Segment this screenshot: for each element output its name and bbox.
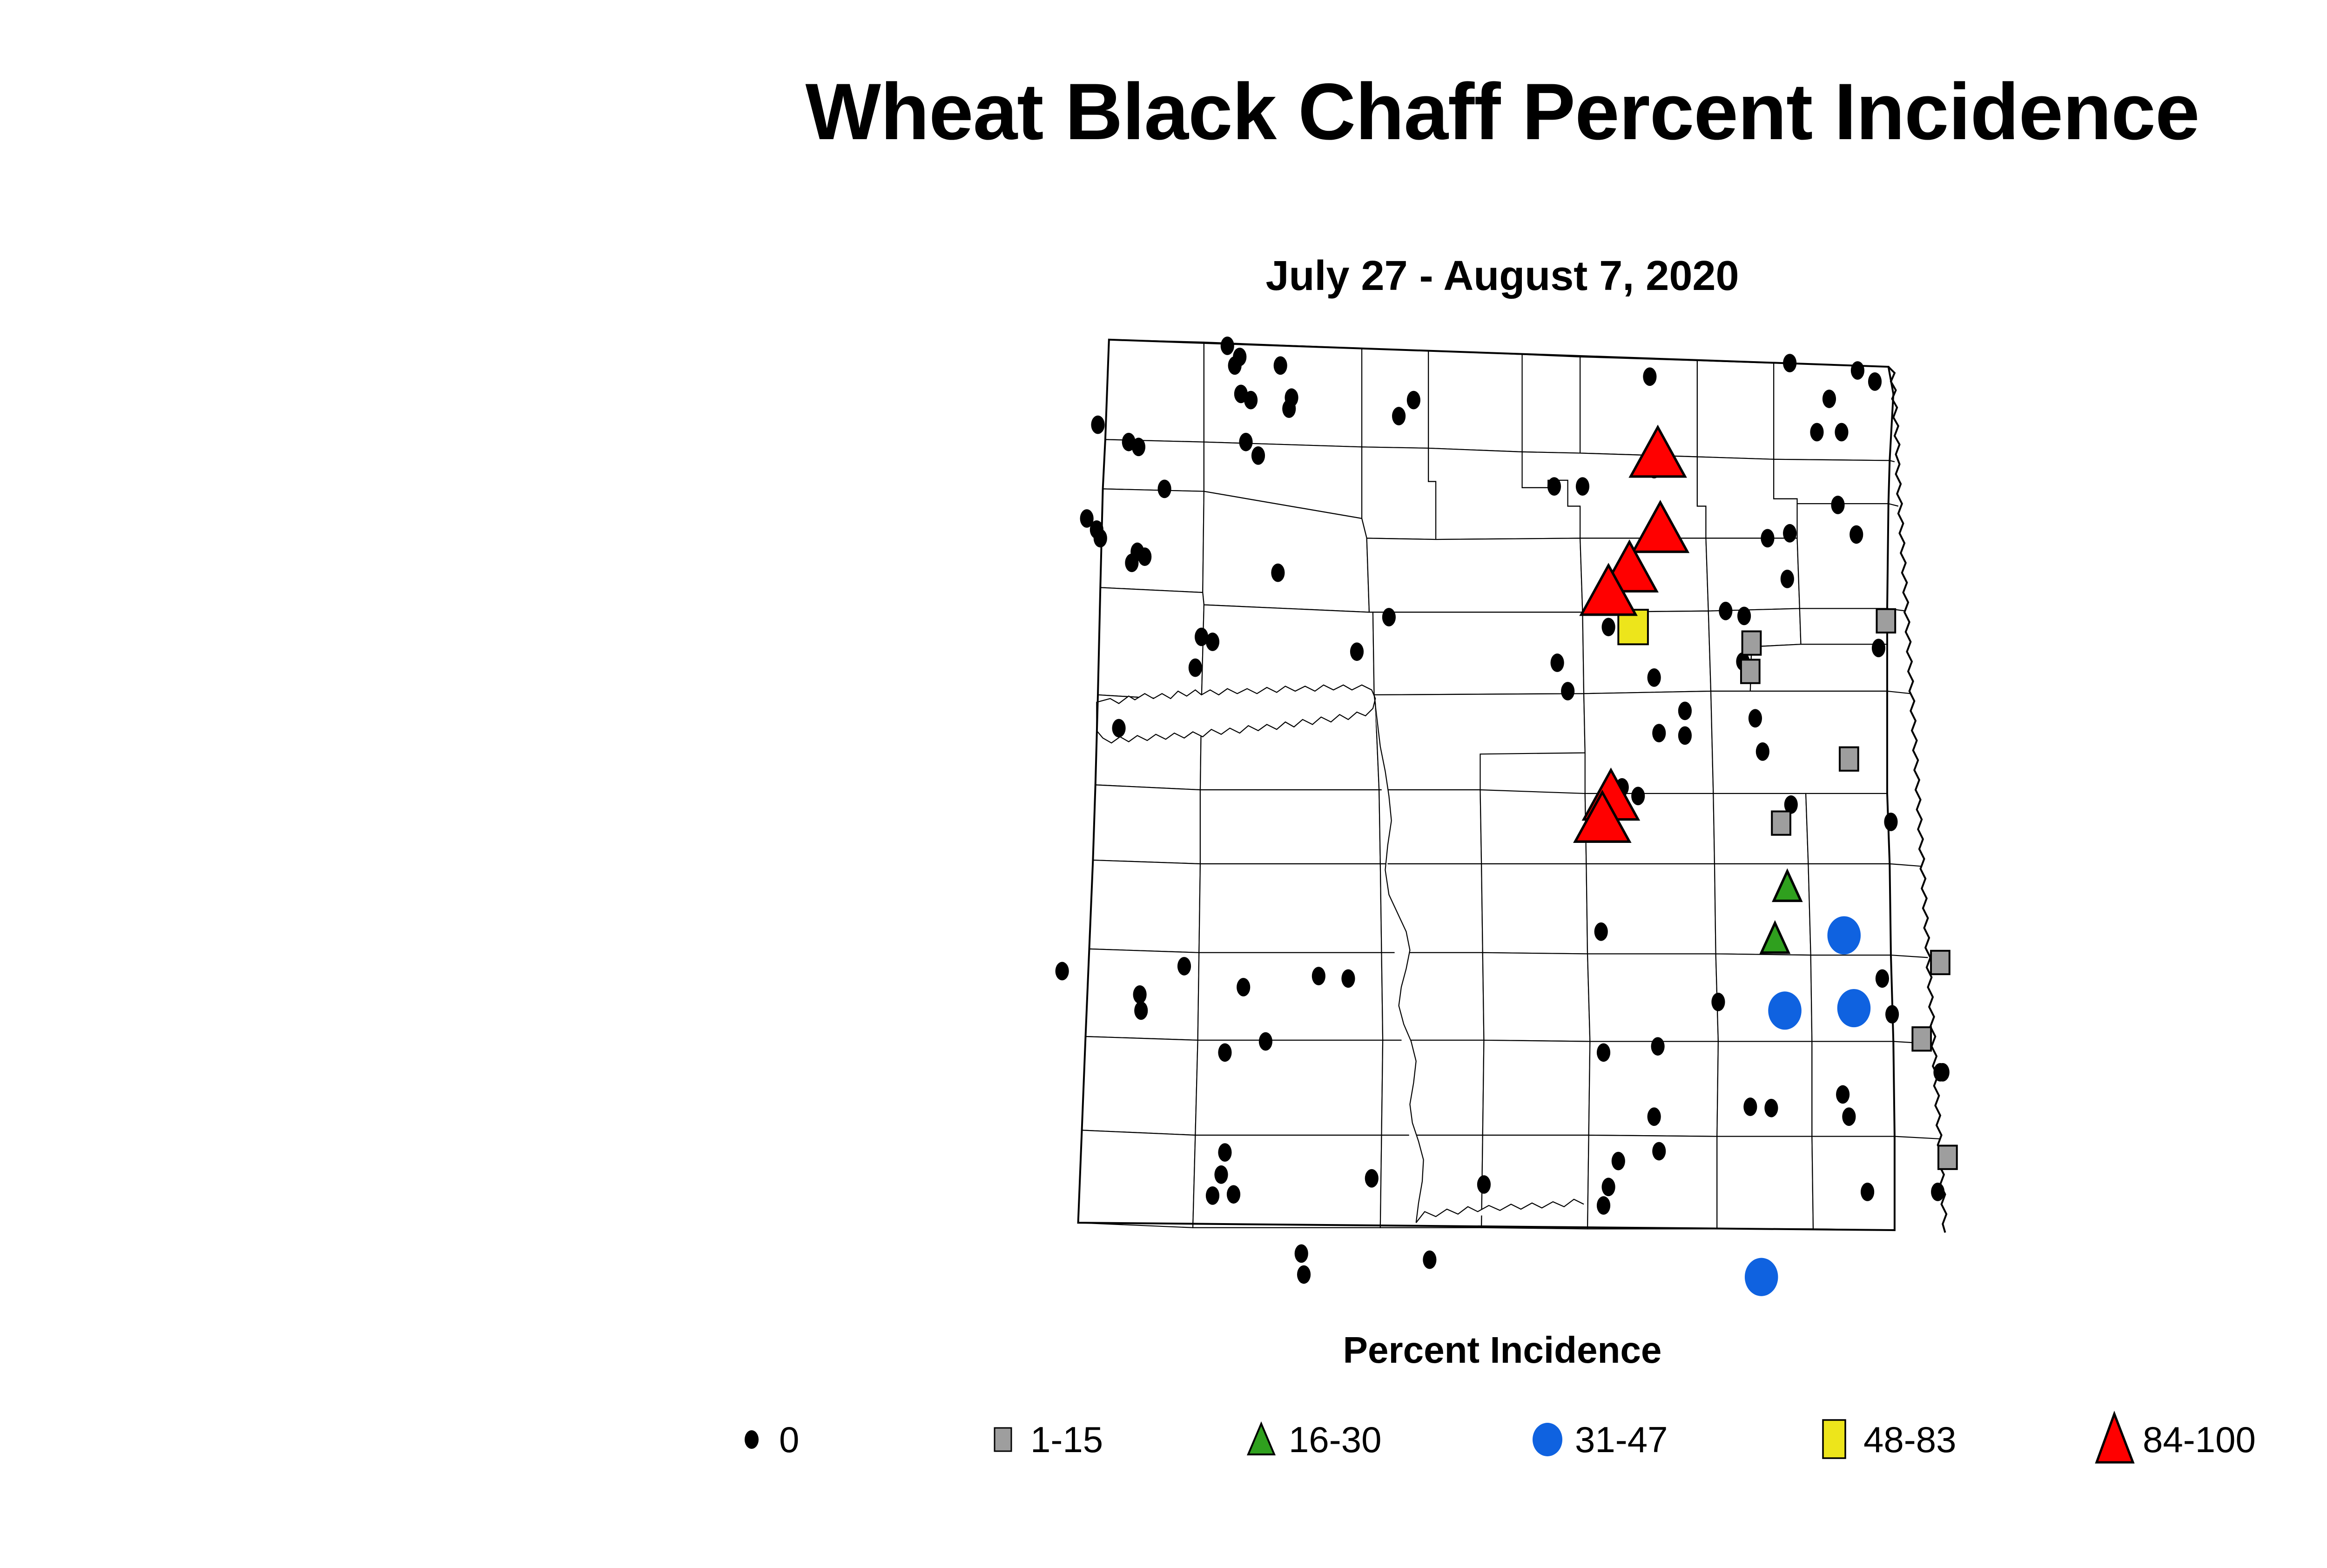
map-marker[interactable] <box>1365 1169 1379 1188</box>
map-marker[interactable] <box>1602 1178 1615 1196</box>
map-marker[interactable] <box>1719 602 1732 620</box>
map-marker[interactable] <box>1423 1251 1436 1269</box>
map-marker[interactable] <box>1133 985 1147 1004</box>
map-marker[interactable] <box>1837 989 1871 1027</box>
map-marker[interactable] <box>1056 962 1069 981</box>
map-marker[interactable] <box>1761 529 1774 548</box>
map-marker[interactable] <box>1783 524 1796 543</box>
legend: 0 1-15 16-30 31-47 48-83 84-100 <box>726 1405 2308 1474</box>
map-marker[interactable] <box>1282 399 1296 418</box>
map-marker[interactable] <box>1094 529 1107 548</box>
legend-item-2[interactable]: 16-30 <box>1236 1405 1382 1474</box>
legend-title: Percent Incidence <box>0 1329 2327 1372</box>
legend-dot-icon <box>726 1412 777 1467</box>
map-marker[interactable] <box>1872 639 1885 657</box>
map-marker[interactable] <box>1835 423 1848 442</box>
map-marker[interactable] <box>1931 951 1950 974</box>
map-marker[interactable] <box>1783 354 1796 372</box>
map-marker[interactable] <box>1876 609 1895 633</box>
legend-label-0: 0 <box>779 1419 799 1461</box>
map-marker[interactable] <box>1597 1196 1610 1215</box>
map-marker[interactable] <box>1158 480 1171 498</box>
map-marker[interactable] <box>1271 564 1285 582</box>
map-marker[interactable] <box>1112 719 1125 738</box>
map-marker[interactable] <box>1091 416 1104 434</box>
map-marker[interactable] <box>1842 1107 1856 1126</box>
map-marker[interactable] <box>1885 1005 1899 1023</box>
legend-square-small-icon <box>977 1412 1029 1467</box>
map-marker[interactable] <box>1477 1175 1491 1194</box>
map-marker[interactable] <box>1931 1183 1944 1201</box>
legend-triangle-large-icon <box>2090 1412 2141 1467</box>
map-svg <box>675 321 2327 1308</box>
map-marker[interactable] <box>1228 357 1242 375</box>
map-marker[interactable] <box>1134 1001 1148 1020</box>
legend-square-large-icon <box>1810 1412 1862 1467</box>
map-marker[interactable] <box>1547 477 1561 496</box>
map-marker[interactable] <box>1851 361 1864 380</box>
map-marker[interactable] <box>1651 1037 1665 1056</box>
map-marker[interactable] <box>1297 1265 1311 1284</box>
map-marker[interactable] <box>1745 1258 1778 1296</box>
legend-item-3[interactable]: 31-47 <box>1522 1405 1668 1474</box>
map-marker[interactable] <box>1876 969 1889 988</box>
legend-triangle-medium-icon <box>1236 1412 1287 1467</box>
map-marker[interactable] <box>1933 1063 1947 1082</box>
map-marker[interactable] <box>1648 1107 1661 1126</box>
map-marker[interactable] <box>1711 993 1725 1011</box>
map-marker[interactable] <box>1742 631 1761 654</box>
map-marker[interactable] <box>1138 547 1151 566</box>
map-marker[interactable] <box>1177 957 1191 976</box>
map-marker[interactable] <box>1274 357 1287 375</box>
map-marker[interactable] <box>1678 702 1692 720</box>
map-marker[interactable] <box>1741 660 1760 683</box>
legend-label-5: 84-100 <box>2143 1419 2256 1461</box>
map-marker[interactable] <box>1227 1185 1240 1204</box>
map-marker[interactable] <box>1849 525 1863 544</box>
legend-label-4: 48-83 <box>1863 1419 1957 1461</box>
map-marker[interactable] <box>1239 433 1252 451</box>
page-title: Wheat Black Chaff Percent Incidence <box>0 70 2327 154</box>
map-marker[interactable] <box>1861 1183 1874 1201</box>
map-marker[interactable] <box>1561 682 1574 700</box>
map-marker[interactable] <box>1206 633 1219 651</box>
map-marker[interactable] <box>1125 554 1138 572</box>
legend-circle-medium-icon <box>1522 1412 1573 1467</box>
north-dakota-map[interactable] <box>675 321 2327 1308</box>
map-marker[interactable] <box>1831 496 1844 514</box>
map-marker[interactable] <box>1612 1152 1625 1171</box>
map-marker[interactable] <box>1350 642 1364 661</box>
map-marker[interactable] <box>1840 747 1858 771</box>
map-marker[interactable] <box>1392 407 1406 425</box>
map-marker[interactable] <box>1407 391 1420 410</box>
map-marker[interactable] <box>1781 570 1794 588</box>
map-marker[interactable] <box>1743 1097 1757 1116</box>
map-marker[interactable] <box>1341 969 1355 988</box>
map-marker[interactable] <box>1237 978 1250 996</box>
map-marker[interactable] <box>1938 1146 1957 1169</box>
map-marker[interactable] <box>1912 1027 1931 1050</box>
map-marker[interactable] <box>1652 1142 1666 1161</box>
map-marker[interactable] <box>1631 787 1645 805</box>
map-marker[interactable] <box>1827 916 1861 955</box>
legend-item-4[interactable]: 48-83 <box>1810 1405 1957 1474</box>
map-marker[interactable] <box>1643 367 1656 386</box>
map-marker[interactable] <box>1756 742 1769 761</box>
legend-label-2: 16-30 <box>1289 1419 1382 1461</box>
map-marker[interactable] <box>1551 653 1564 672</box>
map-marker[interactable] <box>1652 724 1666 742</box>
legend-item-5[interactable]: 84-100 <box>2090 1405 2256 1474</box>
map-marker[interactable] <box>1189 659 1202 677</box>
map-marker[interactable] <box>1737 606 1751 625</box>
map-marker[interactable] <box>1597 1043 1610 1062</box>
legend-item-0[interactable]: 0 <box>726 1405 799 1474</box>
map-marker[interactable] <box>1251 446 1265 465</box>
map-marker[interactable] <box>1218 1043 1231 1062</box>
map-marker[interactable] <box>1868 372 1882 391</box>
map-marker[interactable] <box>1749 709 1762 727</box>
map-marker[interactable] <box>1602 618 1615 636</box>
red-river-border <box>1889 367 1947 1232</box>
map-marker[interactable] <box>1259 1032 1272 1051</box>
legend-label-3: 31-47 <box>1575 1419 1668 1461</box>
map-marker[interactable] <box>1648 668 1661 687</box>
map-marker[interactable] <box>1594 922 1608 941</box>
map-marker[interactable] <box>1772 811 1790 834</box>
map-marker[interactable] <box>1295 1245 1308 1263</box>
map-marker[interactable] <box>1823 390 1836 408</box>
map-marker[interactable] <box>1214 1165 1228 1184</box>
legend-label-1: 1-15 <box>1030 1419 1103 1461</box>
map-marker[interactable] <box>1576 477 1589 496</box>
map-marker[interactable] <box>1312 967 1325 985</box>
map-marker[interactable] <box>1244 391 1258 410</box>
map-marker[interactable] <box>1884 813 1897 831</box>
map-marker[interactable] <box>1132 437 1145 456</box>
map-marker[interactable] <box>1206 1186 1219 1205</box>
date-range-subtitle: July 27 - August 7, 2020 <box>0 252 2327 300</box>
map-marker[interactable] <box>1810 423 1823 442</box>
map-marker[interactable] <box>1768 991 1802 1030</box>
map-marker[interactable] <box>1764 1099 1778 1117</box>
legend-item-1[interactable]: 1-15 <box>977 1405 1103 1474</box>
map-marker[interactable] <box>1218 1143 1231 1162</box>
map-marker[interactable] <box>1382 608 1396 626</box>
map-marker[interactable] <box>1678 727 1692 745</box>
county-boundaries <box>1078 340 1895 1230</box>
map-marker[interactable] <box>1221 336 1234 355</box>
map-marker[interactable] <box>1836 1085 1849 1104</box>
